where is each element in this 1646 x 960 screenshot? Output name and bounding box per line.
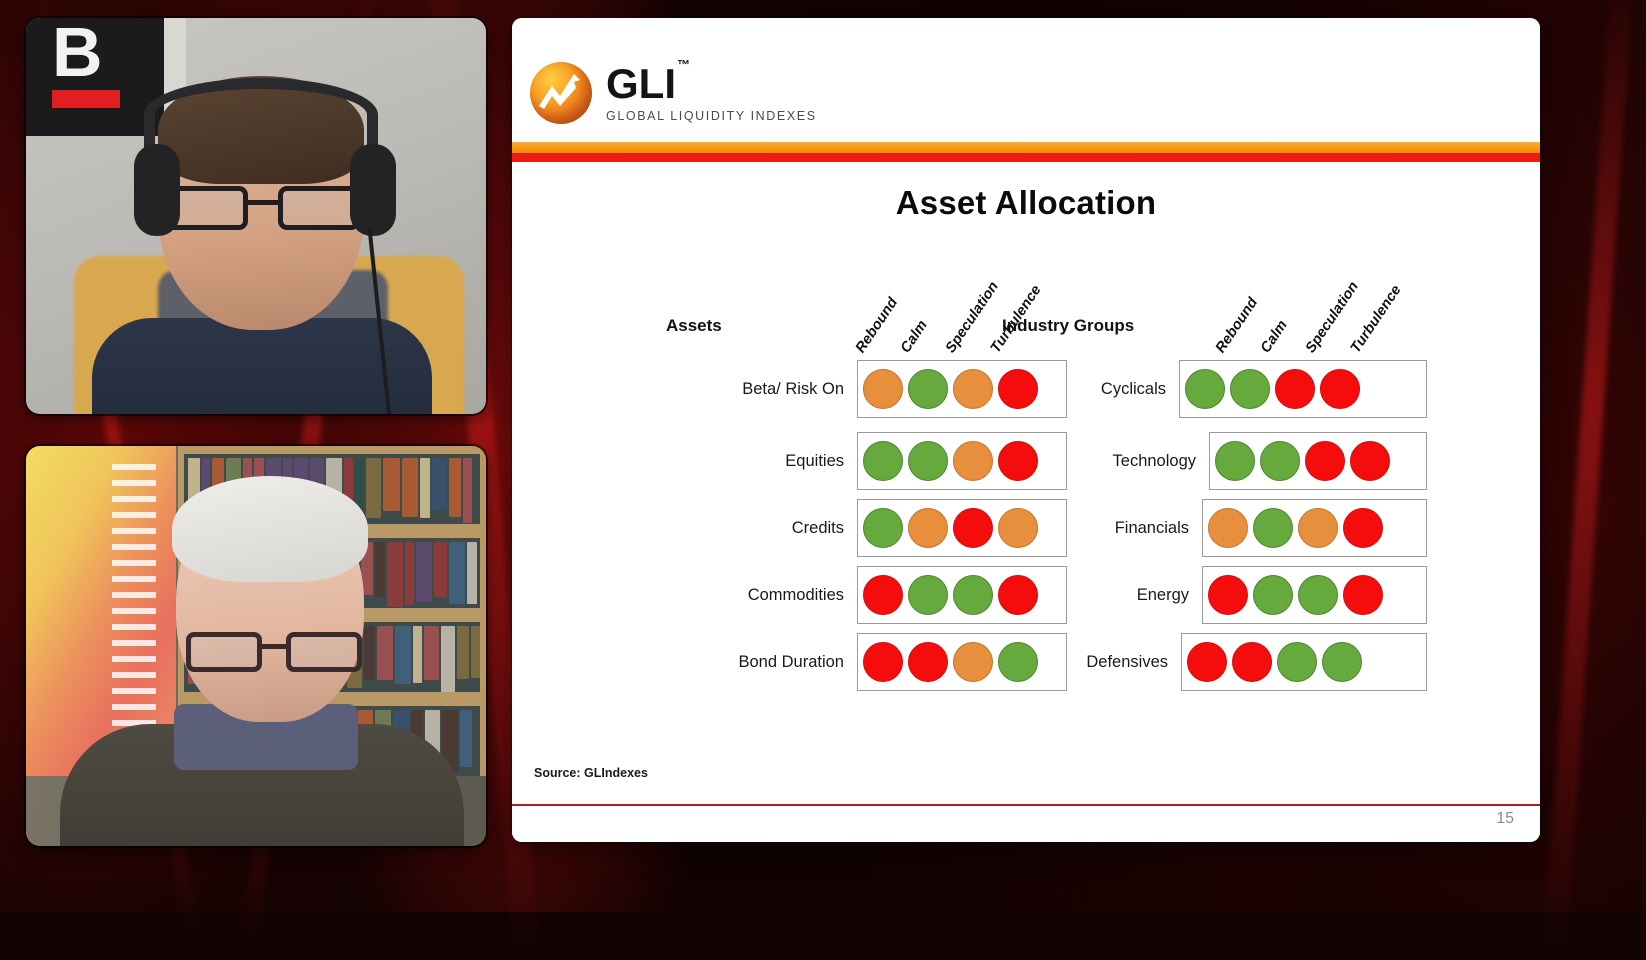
glasses-bridge	[248, 200, 278, 205]
row-label: Bond Duration	[739, 634, 859, 690]
backdrop-streak	[1543, 0, 1635, 960]
poster-letter: B	[52, 24, 98, 80]
status-dot-turbulence	[1320, 369, 1360, 409]
book	[449, 458, 461, 517]
column-header-rebound: Rebound	[1213, 295, 1261, 356]
status-dot-calm	[1232, 642, 1272, 682]
industry-groups-panel-heading: Industry Groups	[1002, 316, 1134, 336]
book	[387, 542, 403, 607]
row-dots	[1182, 634, 1426, 690]
slide-title: Asset Allocation	[512, 184, 1540, 222]
column-header-calm: Calm	[1258, 318, 1291, 356]
row-dots	[1180, 361, 1426, 417]
lens-left	[186, 632, 262, 672]
participant-video-tile-top[interactable]: B	[26, 18, 486, 414]
row-label: Technology	[1113, 433, 1210, 489]
lens-right	[286, 632, 362, 672]
row-dots	[1203, 567, 1426, 623]
status-dot-rebound	[863, 441, 903, 481]
book	[413, 626, 422, 683]
book	[424, 626, 439, 680]
status-dot-rebound	[1185, 369, 1225, 409]
book	[416, 542, 432, 602]
book	[434, 542, 447, 597]
book	[402, 458, 418, 517]
row-label: Credits	[792, 500, 858, 556]
table-row[interactable]: Energy	[1202, 566, 1427, 624]
column-header-rebound: Rebound	[853, 295, 901, 356]
gli-globe-chart-icon	[530, 62, 592, 124]
table-row[interactable]: Financials	[1202, 499, 1427, 557]
header-band-red	[512, 153, 1540, 162]
book	[375, 542, 385, 597]
row-dots	[1203, 500, 1426, 556]
source-note: Source: GLIndexes	[534, 766, 648, 780]
row-dots	[858, 433, 1066, 489]
industry-groups-rows: Cyclicals Technology	[1217, 360, 1427, 700]
row-dots	[858, 634, 1066, 690]
status-dot-turbulence	[1343, 575, 1383, 615]
status-dot-calm	[1253, 575, 1293, 615]
book	[395, 626, 411, 684]
status-dot-speculation	[953, 642, 993, 682]
row-label: Energy	[1137, 567, 1203, 623]
status-dot-turbulence	[1343, 508, 1383, 548]
glasses-bridge	[262, 644, 286, 649]
table-row[interactable]: Cyclicals	[1179, 360, 1427, 418]
poster-red-bar	[52, 90, 120, 108]
art-stripes	[112, 464, 156, 754]
status-dot-speculation	[1298, 575, 1338, 615]
table-row[interactable]: Equities	[857, 432, 1067, 490]
status-dot-calm	[1230, 369, 1270, 409]
status-dot-rebound	[1208, 508, 1248, 548]
industry-column-headers: Rebound Calm Speculation Turbulence	[1222, 294, 1442, 356]
row-dots	[858, 500, 1066, 556]
headphone-earcup-right	[350, 144, 396, 236]
book	[405, 542, 414, 605]
column-header-calm: Calm	[898, 318, 931, 356]
assets-rows: Beta/ Risk On Equities	[857, 360, 1067, 700]
page-number: 15	[1496, 810, 1514, 828]
headphone-band	[144, 78, 378, 152]
status-dot-speculation	[953, 441, 993, 481]
status-dot-calm	[908, 369, 948, 409]
book	[383, 458, 400, 511]
status-dot-speculation	[1275, 369, 1315, 409]
book	[432, 458, 447, 510]
eyeglasses-icon	[186, 632, 362, 674]
footer-rule	[512, 804, 1540, 806]
status-dot-calm	[1260, 441, 1300, 481]
logo-trademark: ™	[677, 57, 690, 72]
status-dot-speculation	[953, 369, 993, 409]
status-dot-calm	[908, 508, 948, 548]
header-band-orange	[512, 142, 1540, 153]
logo-subtitle: GLOBAL LIQUIDITY INDEXES	[606, 110, 817, 123]
book	[377, 626, 393, 680]
eyeglasses-icon	[166, 186, 362, 232]
row-dots	[858, 567, 1066, 623]
status-dot-turbulence	[998, 642, 1038, 682]
book	[364, 626, 375, 680]
status-dot-turbulence	[998, 575, 1038, 615]
row-label: Defensives	[1086, 634, 1182, 690]
status-dot-turbulence	[1350, 441, 1390, 481]
participant-video-tile-bottom[interactable]	[26, 446, 486, 846]
lens-right	[278, 186, 360, 230]
book	[457, 626, 469, 679]
status-dot-rebound	[1215, 441, 1255, 481]
status-dot-rebound	[1208, 575, 1248, 615]
row-dots	[858, 361, 1066, 417]
book	[471, 626, 480, 678]
book	[460, 710, 472, 767]
status-dot-turbulence	[998, 369, 1038, 409]
status-dot-speculation	[953, 508, 993, 548]
status-dot-rebound	[863, 575, 903, 615]
table-row[interactable]: Beta/ Risk On	[857, 360, 1067, 418]
status-dot-calm	[908, 575, 948, 615]
book	[449, 542, 465, 604]
shared-slide[interactable]: GLI™ GLOBAL LIQUIDITY INDEXES Asset Allo…	[512, 18, 1540, 842]
status-dot-speculation	[953, 575, 993, 615]
row-label: Cyclicals	[1101, 361, 1180, 417]
table-row[interactable]: Commodities	[857, 566, 1067, 624]
person-hair	[172, 476, 368, 582]
status-dot-rebound	[863, 642, 903, 682]
status-dot-speculation	[1305, 441, 1345, 481]
status-dot-speculation	[1277, 642, 1317, 682]
table-row[interactable]: Bond Duration	[857, 633, 1067, 691]
status-dot-turbulence	[998, 508, 1038, 548]
table-row[interactable]: Credits	[857, 499, 1067, 557]
logo-name: GLI	[606, 60, 676, 107]
gli-logo: GLI™ GLOBAL LIQUIDITY INDEXES	[530, 62, 817, 124]
row-label: Financials	[1115, 500, 1203, 556]
status-dot-calm	[908, 642, 948, 682]
status-dot-speculation	[1298, 508, 1338, 548]
slide-canvas: GLI™ GLOBAL LIQUIDITY INDEXES Asset Allo…	[512, 18, 1540, 842]
status-dot-rebound	[1187, 642, 1227, 682]
book	[467, 542, 477, 604]
status-dot-rebound	[863, 508, 903, 548]
assets-panel-heading: Assets	[666, 316, 722, 336]
table-row[interactable]: Defensives	[1181, 633, 1427, 691]
headphone-earcup-left	[134, 144, 180, 236]
status-dot-calm	[908, 441, 948, 481]
status-dot-turbulence	[1322, 642, 1362, 682]
row-label: Equities	[785, 433, 858, 489]
book	[463, 458, 472, 523]
row-label: Beta/ Risk On	[742, 361, 858, 417]
table-row[interactable]: Technology	[1209, 432, 1427, 490]
book	[366, 458, 381, 518]
book	[420, 458, 430, 518]
gli-logo-text: GLI™ GLOBAL LIQUIDITY INDEXES	[606, 63, 817, 123]
status-dot-turbulence	[998, 441, 1038, 481]
row-label: Commodities	[748, 567, 858, 623]
book	[441, 626, 455, 692]
status-dot-rebound	[863, 369, 903, 409]
status-dot-calm	[1253, 508, 1293, 548]
row-dots	[1210, 433, 1426, 489]
